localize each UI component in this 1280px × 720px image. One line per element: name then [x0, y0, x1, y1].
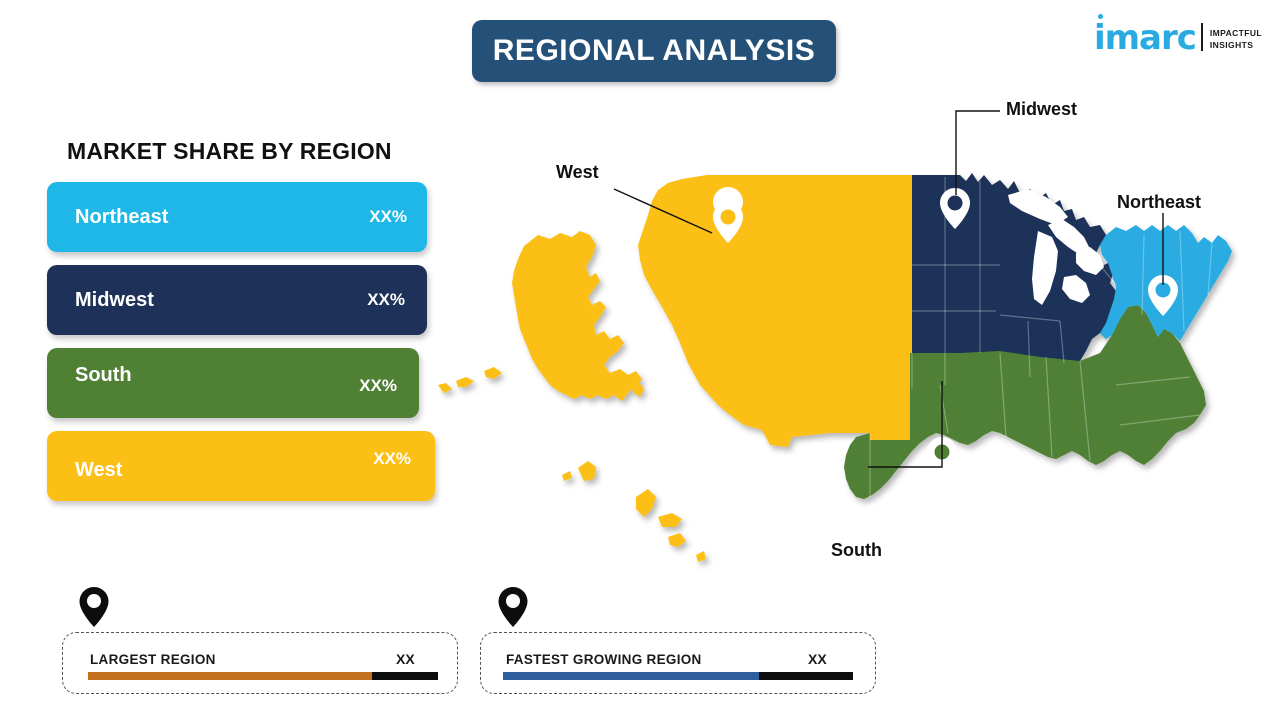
- legend-row-west[interactable]: West XX%: [47, 431, 437, 514]
- legend-label-west: West: [75, 459, 122, 482]
- map-regions: [438, 173, 1232, 562]
- map-label-northeast: Northeast: [1117, 192, 1201, 213]
- fastest-region-progress-track: [503, 672, 853, 680]
- largest-region-progress-track: [88, 672, 438, 680]
- legend-row-south[interactable]: South XX%: [47, 348, 437, 431]
- logo-tagline-line1: IMPACTFUL: [1210, 28, 1262, 39]
- logo-wordmark-text: imarc: [1094, 18, 1196, 58]
- legend-bar-midwest[interactable]: Midwest XX%: [47, 265, 427, 335]
- us-map-svg: [400, 85, 1280, 585]
- fastest-region-label: FASTEST GROWING REGION: [506, 652, 702, 667]
- legend-bar-south[interactable]: South XX%: [47, 348, 419, 418]
- legend-label-south: South: [75, 364, 132, 387]
- fastest-region-progress-fill: [503, 672, 759, 680]
- largest-region-value: XX: [396, 651, 415, 667]
- page-title: REGIONAL ANALYSIS: [493, 36, 815, 66]
- fastest-region-pin-icon: [497, 586, 529, 628]
- largest-region-label: LARGEST REGION: [90, 652, 216, 667]
- legend-label-northeast: Northeast: [75, 206, 168, 229]
- legend-bar-northeast[interactable]: Northeast XX%: [47, 182, 427, 252]
- legend-value-south: XX%: [359, 376, 397, 396]
- map-label-west: West: [556, 162, 599, 183]
- largest-region-pin-icon: [78, 586, 110, 628]
- logo-tagline-line2: INSIGHTS: [1210, 40, 1262, 51]
- map-region-hawaii[interactable]: [562, 461, 706, 562]
- legend-bar-west[interactable]: West XX%: [47, 431, 435, 501]
- fastest-region-value: XX: [808, 651, 827, 667]
- logo-tagline: IMPACTFUL INSIGHTS: [1210, 28, 1262, 51]
- legend-label-midwest: Midwest: [75, 289, 154, 312]
- legend-row-midwest[interactable]: Midwest XX%: [47, 265, 437, 348]
- legend-row-northeast[interactable]: Northeast XX%: [47, 182, 437, 265]
- logo-divider: [1201, 23, 1203, 51]
- imarc-logo: imarc IMPACTFUL INSIGHTS: [1094, 14, 1262, 54]
- page-title-banner: REGIONAL ANALYSIS: [472, 20, 836, 82]
- market-share-heading: MARKET SHARE BY REGION: [67, 138, 392, 165]
- map-region-alaska[interactable]: [512, 231, 642, 401]
- map-label-south: South: [831, 540, 882, 561]
- map-alaska-aleutians: [438, 367, 502, 393]
- logo-wordmark: imarc: [1094, 23, 1196, 54]
- market-share-legend-list: Northeast XX% Midwest XX% South XX% West…: [47, 182, 437, 514]
- map-label-midwest: Midwest: [1006, 99, 1077, 120]
- largest-region-progress-fill: [88, 672, 372, 680]
- us-regional-map: West Midwest Northeast South: [400, 85, 1280, 585]
- map-region-west[interactable]: [638, 175, 917, 447]
